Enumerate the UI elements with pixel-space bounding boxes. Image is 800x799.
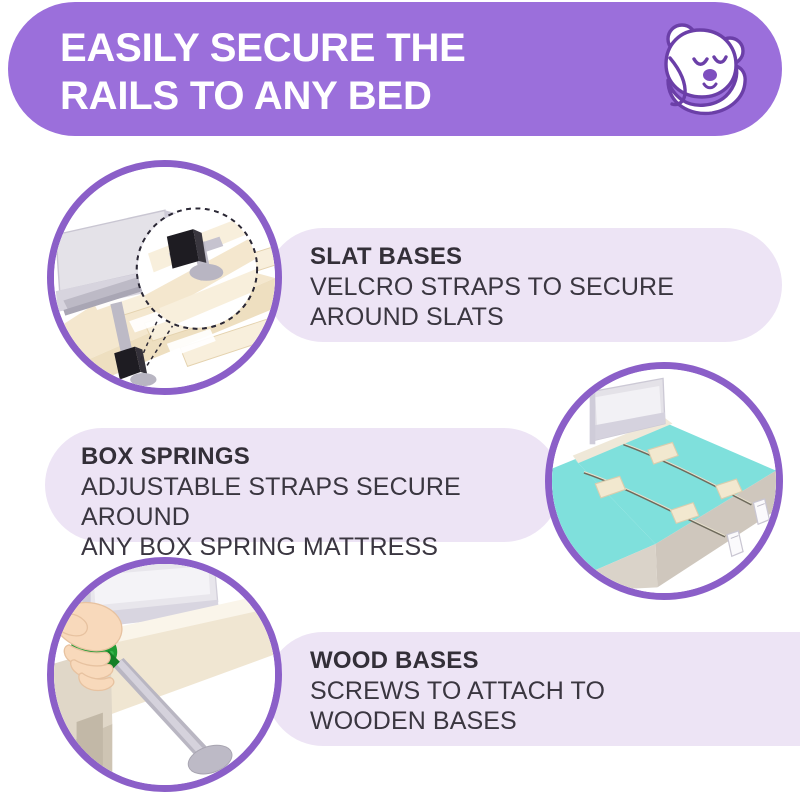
section-title-box-springs: BOX SPRINGS: [81, 442, 561, 472]
section-body-slat-bases: VELCRO STRAPS TO SECURE AROUND SLATS: [310, 272, 674, 332]
text-panel-wood-bases: WOOD BASES SCREWS TO ATTACH TO WOODEN BA…: [266, 632, 800, 746]
wood-base-screwdriver-illustration: [47, 557, 282, 792]
section-title-slat-bases: SLAT BASES: [310, 242, 674, 272]
section-title-wood-bases: WOOD BASES: [310, 646, 605, 676]
header-banner: EASILY SECURE THE RAILS TO ANY BED: [8, 2, 782, 136]
text-panel-slat-bases: SLAT BASES VELCRO STRAPS TO SECURE AROUN…: [266, 228, 782, 342]
bed-slat-base-illustration: [47, 160, 282, 395]
section-body-box-springs: ADJUSTABLE STRAPS SECURE AROUND ANY BOX …: [81, 472, 561, 562]
sleeping-bear-logo: [650, 18, 752, 120]
box-spring-mattress-straps-illustration: [545, 362, 783, 600]
section-body-wood-bases: SCREWS TO ATTACH TO WOODEN BASES: [310, 676, 605, 736]
page-title: EASILY SECURE THE RAILS TO ANY BED: [60, 24, 620, 120]
text-panel-box-springs: BOX SPRINGS ADJUSTABLE STRAPS SECURE ARO…: [45, 428, 561, 542]
infographic-root: EASILY SECURE THE RAILS TO ANY BED: [0, 0, 800, 799]
panel-text-block: WOOD BASES SCREWS TO ATTACH TO WOODEN BA…: [310, 646, 605, 736]
panel-text-block: BOX SPRINGS ADJUSTABLE STRAPS SECURE ARO…: [81, 442, 561, 562]
panel-text-block: SLAT BASES VELCRO STRAPS TO SECURE AROUN…: [310, 242, 674, 332]
